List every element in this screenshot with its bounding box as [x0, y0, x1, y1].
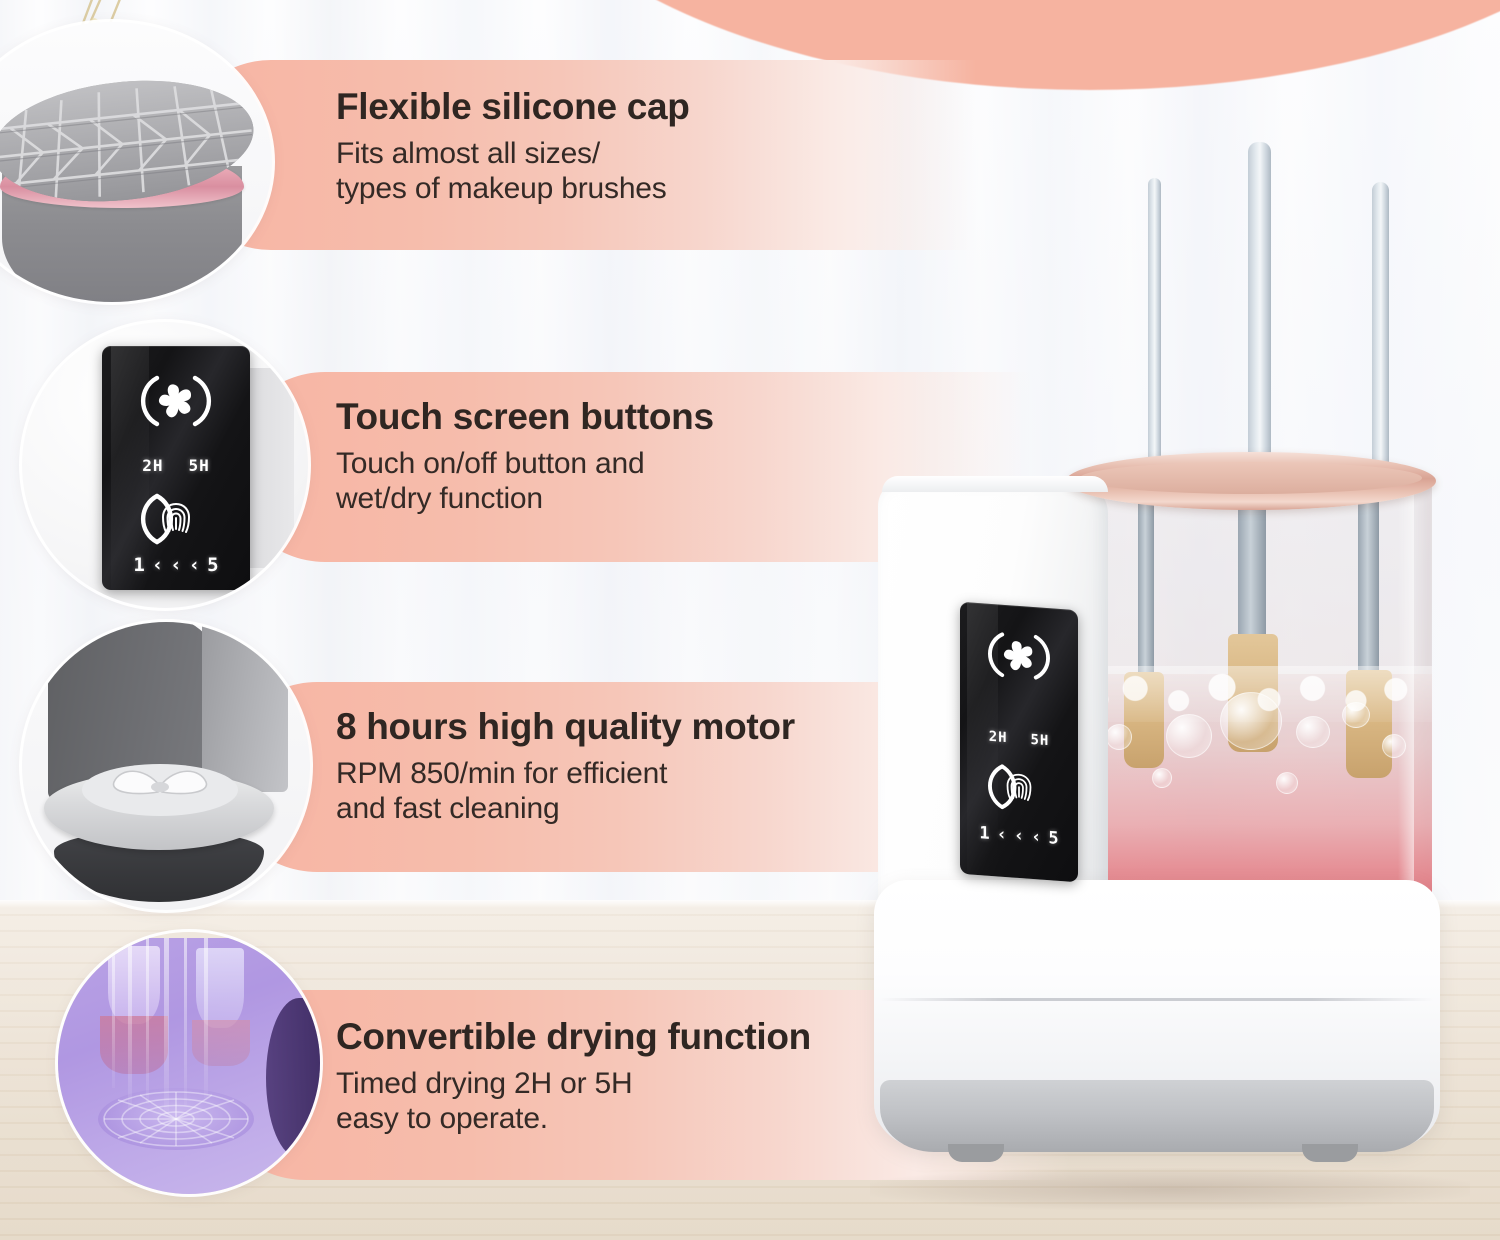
fan-icon: [133, 370, 219, 432]
feature-subtext-3-line2: and fast cleaning: [336, 791, 795, 826]
feature-headline-4: Convertible drying function: [336, 1018, 811, 1057]
airflow-streak-6: [112, 938, 115, 1088]
bubble-3: [1220, 692, 1282, 750]
fingerprint-icon: [133, 488, 219, 550]
feature-text-4: Convertible drying function Timed drying…: [336, 1018, 811, 1137]
motor-impeller-photo: [22, 622, 310, 910]
feature-headline-2: Touch screen buttons: [336, 398, 714, 437]
brush-handle-left: [1148, 178, 1161, 466]
bubble-2: [1166, 714, 1212, 758]
body-top-lip: [882, 476, 1108, 492]
chamber-shadow-right: [266, 998, 320, 1158]
airflow-streak-3: [164, 938, 169, 1114]
timer-2h-label[interactable]: 2H: [142, 456, 163, 475]
product-base: [874, 880, 1440, 1150]
feature-subtext-2-line2: wet/dry function: [336, 481, 714, 516]
feature-subtext-3: RPM 850/min for efficient and fast clean…: [336, 756, 795, 827]
product-main-image: [860, 140, 1500, 1210]
brush-ferrule-left: [1138, 486, 1154, 684]
speed-chevron-3[interactable]: ‹: [189, 554, 200, 576]
fan-button-main[interactable]: [981, 625, 1057, 692]
base-foot-left: [948, 1144, 1004, 1162]
control-panel-main: 2H 5H: [960, 602, 1078, 883]
speed-max-label: 5: [207, 554, 218, 576]
power-touch-button-main[interactable]: [981, 757, 1057, 824]
base-seam-line: [880, 998, 1434, 1001]
control-panel-closeup: 2H 5H: [102, 346, 250, 590]
airflow-streak-2: [146, 938, 149, 1104]
speed-min-label: 1: [133, 554, 144, 576]
airflow-streak-5: [204, 938, 208, 1098]
feature-subtext-2: Touch on/off button and wet/dry function: [336, 446, 714, 517]
feature-subtext-1: Fits almost all sizes/ types of makeup b…: [336, 136, 690, 207]
bubble-1: [1106, 724, 1132, 750]
fan-icon-main: [981, 625, 1057, 687]
base-foot-right: [1302, 1144, 1358, 1162]
fingerprint-icon-main: [981, 757, 1057, 819]
timer-5h-label-main[interactable]: 5H: [1030, 732, 1049, 749]
feature-subtext-4-line1: Timed drying 2H or 5H: [336, 1066, 811, 1101]
speed-chevron-3-main[interactable]: ‹: [1031, 827, 1041, 848]
airflow-streak-1: [128, 938, 132, 1110]
feature-subtext-1-line2: types of makeup brushes: [336, 171, 690, 206]
feature-subtext-1-line1: Fits almost all sizes/: [336, 136, 690, 171]
dry-brush-2-bristles: [192, 1020, 250, 1066]
bubble-5: [1342, 702, 1370, 728]
brush-handle-center: [1248, 142, 1271, 464]
feature-subtext-4-line2: easy to operate.: [336, 1101, 811, 1136]
speed-chevron-1[interactable]: ‹: [152, 554, 163, 576]
power-touch-button[interactable]: [133, 488, 219, 550]
motor-blade-icon: [80, 756, 240, 818]
speed-chevron-2-main[interactable]: ‹: [1014, 826, 1024, 847]
brush-ferrule-right: [1358, 484, 1379, 682]
base-gray-trim: [880, 1080, 1434, 1152]
feature-subtext-4: Timed drying 2H or 5H easy to operate.: [336, 1066, 811, 1137]
speed-min-label-main: 1: [979, 823, 989, 844]
feature-subtext-2-line1: Touch on/off button and: [336, 446, 714, 481]
speed-chevron-2[interactable]: ‹: [170, 554, 181, 576]
speed-max-label-main: 5: [1048, 828, 1058, 849]
dry-brush-1: [108, 946, 160, 1024]
bubble-6: [1152, 768, 1172, 788]
feature-text-2: Touch screen buttons Touch on/off button…: [336, 398, 714, 517]
control-panel-photo: 2H 5H: [22, 322, 308, 608]
speed-chevron-1-main[interactable]: ‹: [997, 824, 1007, 845]
brush-handle-right: [1372, 182, 1389, 466]
uv-purple-chamber: [58, 938, 320, 1194]
dry-brush-1-bristles: [100, 1016, 168, 1074]
fan-button[interactable]: [133, 370, 219, 432]
drying-base-grid: [98, 1088, 254, 1150]
feature-text-1: Flexible silicone cap Fits almost all si…: [336, 88, 690, 207]
transparent-wash-bowl: [1070, 476, 1432, 916]
feature-subtext-3-line1: RPM 850/min for efficient: [336, 756, 795, 791]
bowl-right-highlight: [1398, 476, 1414, 916]
drying-chamber-photo: [58, 932, 320, 1194]
feature-headline-1: Flexible silicone cap: [336, 88, 690, 127]
silicone-cap-photo: [0, 22, 272, 302]
timer-5h-label[interactable]: 5H: [188, 456, 209, 475]
feature-text-3: 8 hours high quality motor RPM 850/min f…: [336, 708, 795, 827]
lid-inner-ring: [1080, 462, 1422, 494]
infographic-canvas: Flexible silicone cap Fits almost all si…: [0, 0, 1500, 1240]
airflow-streak-4: [184, 938, 187, 1106]
bubble-4: [1296, 716, 1330, 748]
rose-gold-lid-ring: [1066, 452, 1436, 510]
bubble-7: [1276, 772, 1298, 794]
timer-2h-label-main[interactable]: 2H: [989, 729, 1008, 746]
feature-headline-3: 8 hours high quality motor: [336, 708, 795, 747]
